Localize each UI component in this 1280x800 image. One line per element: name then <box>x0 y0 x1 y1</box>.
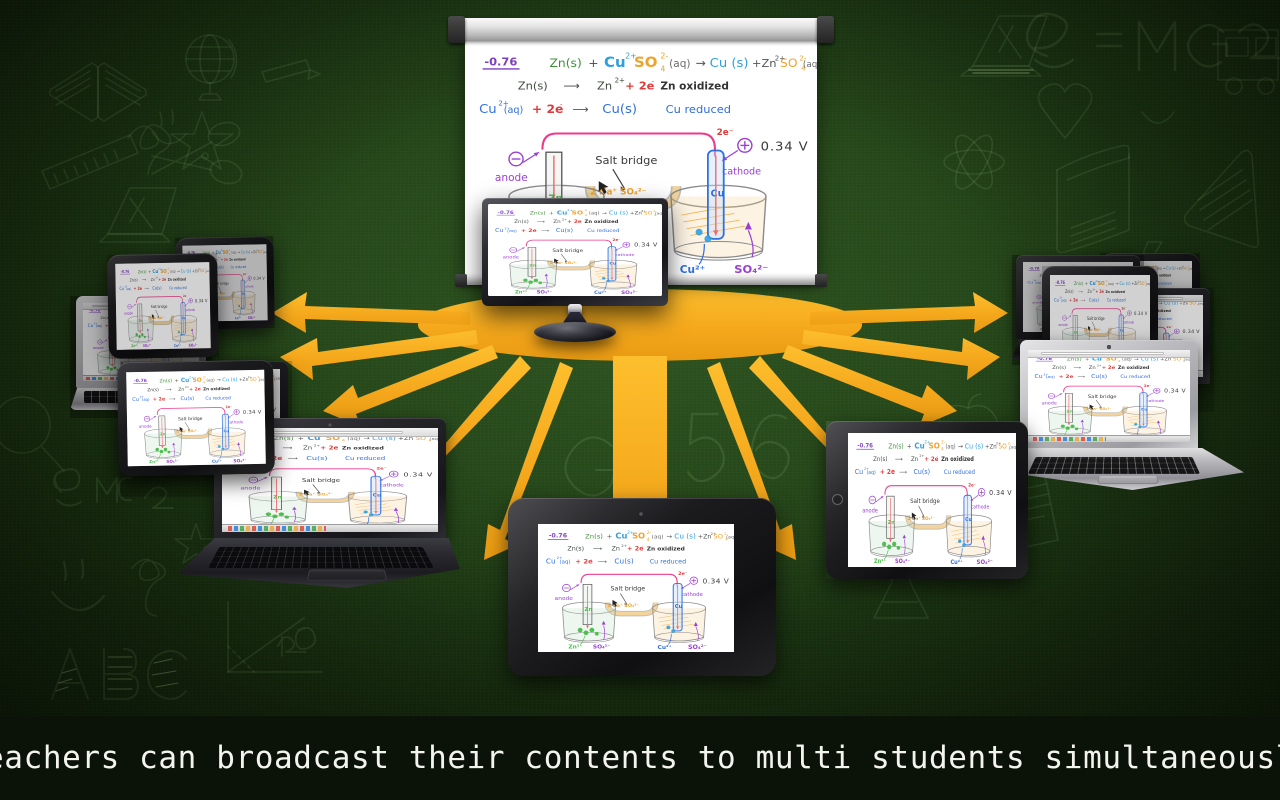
svg-text:+ 2e: + 2e <box>221 257 228 262</box>
webcam-icon <box>328 423 332 427</box>
os-taskbar[interactable] <box>1028 435 1190 442</box>
svg-text:Cu: Cu <box>965 517 972 523</box>
svg-text:+Zn: +Zn <box>251 250 257 255</box>
svg-text:SO: SO <box>250 377 257 383</box>
svg-text:0.34 V: 0.34 V <box>989 489 1012 498</box>
svg-text:SO: SO <box>713 533 723 541</box>
teacher-monitor[interactable]: -0.76 Zn(s) + Cu 2+ SO 4 2- (aq) → Cu (s… <box>482 198 668 334</box>
svg-text:2e⁻: 2e⁻ <box>678 571 688 577</box>
svg-text:+: + <box>148 269 151 275</box>
svg-text:Cu: Cu <box>1034 375 1042 380</box>
svg-text:→: → <box>666 533 672 541</box>
lesson-svg: -0.76 Zn(s) + Cu 2+ SO 4 2- (aq) → Cu (s… <box>115 262 210 350</box>
lesson-svg: -0.76 Zn(s) + Cu 2+ SO 4 2- (aq) → Cu (s… <box>126 370 266 466</box>
svg-text:cathode: cathode <box>615 253 635 257</box>
svg-text:(aq): (aq) <box>726 535 734 541</box>
svg-text:Cu (s): Cu (s) <box>674 532 696 541</box>
svg-text:Cu: Cu <box>1120 328 1124 332</box>
svg-text:anode: anode <box>93 346 104 350</box>
svg-text:Zn(s): Zn(s) <box>530 211 546 216</box>
svg-text:Zn oxidized: Zn oxidized <box>168 277 187 282</box>
svg-text:Cu: Cu <box>557 209 568 216</box>
svg-text:SO₄²⁻: SO₄²⁻ <box>248 315 256 320</box>
svg-text:Cu (s): Cu (s) <box>241 250 251 255</box>
svg-text:Zn(s): Zn(s) <box>567 546 584 553</box>
svg-text:2e⁻: 2e⁻ <box>183 294 188 299</box>
svg-text:Zn oxidized: Zn oxidized <box>1106 290 1126 294</box>
taskbar-icons[interactable] <box>1033 437 1106 441</box>
svg-text:+Zn: +Zn <box>1176 266 1182 270</box>
lesson-whiteboard: -0.76 Zn(s) + Cu 2+ SO 4 2- (aq) → Cu (s… <box>1028 350 1190 442</box>
svg-text:Zn(s): Zn(s) <box>873 457 887 463</box>
svg-text:Cu(s): Cu(s) <box>614 557 634 566</box>
taskbar-icons[interactable] <box>228 526 325 531</box>
svg-text:SO₄²⁻: SO₄²⁻ <box>143 343 152 348</box>
svg-text:⟶: ⟶ <box>541 229 549 234</box>
student-tablet-right[interactable]: -0.76 Zn(s) + Cu 2+ SO 4 2- (aq) → Cu (s… <box>826 421 1028 579</box>
svg-text:(aq): (aq) <box>1108 282 1115 286</box>
svg-text:Zn(s): Zn(s) <box>549 56 581 70</box>
svg-text:Salt bridge: Salt bridge <box>302 478 341 484</box>
svg-text:anode: anode <box>240 486 261 491</box>
svg-text:Zn oxidized: Zn oxidized <box>585 220 619 225</box>
svg-text:SO₄²⁻: SO₄²⁻ <box>593 644 610 651</box>
svg-text:Zn oxidized: Zn oxidized <box>1118 365 1149 370</box>
svg-text:SO₄²⁻: SO₄²⁻ <box>688 644 707 651</box>
svg-text:→: → <box>1163 266 1166 270</box>
svg-text:SO: SO <box>1140 280 1145 285</box>
svg-text:4: 4 <box>941 446 944 451</box>
svg-text:Cu²⁺: Cu²⁺ <box>174 343 181 348</box>
lesson-whiteboard: -0.76 Zn(s) + Cu 2+ SO 4 2- (aq) → Cu (s… <box>126 370 266 466</box>
svg-text:Cu: Cu <box>182 316 186 321</box>
svg-text:Zn oxidized: Zn oxidized <box>342 446 384 451</box>
svg-text:2-: 2- <box>203 375 206 379</box>
tablet-display[interactable]: -0.76 Zn(s) + Cu 2+ SO 4 2- (aq) → Cu (s… <box>115 262 210 350</box>
caption-text: Teachers can broadcast their contents to… <box>0 740 1280 776</box>
svg-text:Zn(s): Zn(s) <box>159 378 172 384</box>
svg-text:2-: 2- <box>941 439 945 444</box>
svg-text:Cu reduced: Cu reduced <box>1156 281 1172 285</box>
screenshot-root: -0.76 Zn(s) + Cu 2+ SO 4 2- (aq) → Cu (s… <box>0 0 1280 800</box>
svg-text:Cu: Cu <box>373 493 382 498</box>
svg-text:(aq): (aq) <box>655 211 662 215</box>
svg-text:Zn: Zn <box>911 457 918 463</box>
svg-text:Cu: Cu <box>181 378 190 384</box>
svg-text:4: 4 <box>342 439 345 443</box>
laptop-touchpad[interactable] <box>307 570 387 581</box>
svg-text:+ 2e: + 2e <box>627 546 643 553</box>
svg-text:Cu reduced: Cu reduced <box>169 286 187 291</box>
svg-text:Zn: Zn <box>888 520 895 526</box>
svg-text:Zn oxidized: Zn oxidized <box>647 547 685 553</box>
svg-text:2e⁻: 2e⁻ <box>1167 325 1173 329</box>
svg-text:Cu(s): Cu(s) <box>914 468 931 477</box>
svg-text:Zn²⁺: Zn²⁺ <box>131 344 138 349</box>
svg-text:SO: SO <box>193 378 202 384</box>
caption-bar: Teachers can broadcast their contents to… <box>0 716 1280 800</box>
svg-text:SO: SO <box>1098 280 1105 287</box>
svg-text:(aq): (aq) <box>231 250 236 255</box>
lesson-whiteboard: -0.76 Zn(s) + Cu 2+ SO 4 2- (aq) → Cu (s… <box>488 204 662 296</box>
svg-text:Cu: Cu <box>604 54 626 71</box>
svg-text:(aq): (aq) <box>507 229 517 233</box>
svg-text:Cu²⁺: Cu²⁺ <box>658 644 672 651</box>
os-taskbar[interactable] <box>222 524 438 532</box>
svg-text:2-: 2- <box>647 530 652 536</box>
svg-text:-: - <box>200 385 201 389</box>
svg-text:Zn: Zn <box>597 79 612 92</box>
svg-text:Zn: Zn <box>1089 365 1096 370</box>
svg-text:2+: 2+ <box>562 218 568 221</box>
svg-text:+ 2e: + 2e <box>189 386 201 392</box>
svg-text:Salt bridge: Salt bridge <box>910 499 940 505</box>
svg-text:Cu(s): Cu(s) <box>602 102 637 117</box>
svg-text:⟶: ⟶ <box>144 286 148 291</box>
svg-text:2+: 2+ <box>1093 288 1096 291</box>
svg-text:Cu(s): Cu(s) <box>180 396 194 402</box>
student-tablet-bottom[interactable]: -0.76 Zn(s) + Cu 2+ SO 4 2- (aq) → Cu (s… <box>508 498 776 676</box>
svg-text:2e⁻: 2e⁻ <box>243 273 248 276</box>
svg-text:+Zn: +Zn <box>985 444 997 450</box>
svg-text:2-: 2- <box>229 249 231 252</box>
svg-text:2e⁻: 2e⁻ <box>612 237 620 241</box>
svg-text:0.34 V: 0.34 V <box>195 298 208 304</box>
svg-text:Zn²⁺: Zn²⁺ <box>149 459 159 464</box>
svg-text:Zn: Zn <box>529 263 536 267</box>
svg-text:→: → <box>237 250 240 255</box>
svg-text:2 Na⁺ SO₄²⁻: 2 Na⁺ SO₄²⁻ <box>1086 407 1112 411</box>
svg-text:+ 2e: + 2e <box>880 469 895 476</box>
svg-text:Cu reduced: Cu reduced <box>650 558 687 565</box>
svg-text:Cu (s): Cu (s) <box>222 377 237 383</box>
svg-text:0.34 V: 0.34 V <box>243 410 262 416</box>
svg-text:Salt bridge: Salt bridge <box>1088 394 1117 399</box>
svg-text:⟶: ⟶ <box>169 397 176 402</box>
svg-text:(aq): (aq) <box>1184 358 1190 362</box>
laptop-keyboard[interactable] <box>208 547 433 568</box>
svg-text:⟶: ⟶ <box>537 220 545 225</box>
svg-text:⟶: ⟶ <box>593 546 602 553</box>
student-tablet-left-front[interactable]: -0.76 Zn(s) + Cu 2+ SO 4 2- (aq) → Cu (s… <box>117 360 275 477</box>
student-tablet-left-lower[interactable]: -0.76 Zn(s) + Cu 2+ SO 4 2- (aq) → Cu (s… <box>107 253 219 359</box>
monitor-display[interactable]: -0.76 Zn(s) + Cu 2+ SO 4 2- (aq) → Cu (s… <box>488 204 662 296</box>
svg-text:cathode: cathode <box>185 308 196 313</box>
svg-text:⟶: ⟶ <box>899 470 907 476</box>
svg-text:Zn²⁺: Zn²⁺ <box>874 558 886 565</box>
svg-text:2e⁻: 2e⁻ <box>968 482 977 488</box>
svg-text:(aq): (aq) <box>126 287 131 292</box>
svg-text:Zn(s): Zn(s) <box>138 269 147 275</box>
svg-text:⟶: ⟶ <box>1081 298 1086 302</box>
svg-text:Cu²⁺: Cu²⁺ <box>212 459 222 464</box>
svg-text:Cu (s): Cu (s) <box>1120 280 1131 285</box>
svg-text:Zn: Zn <box>178 387 184 393</box>
webcam-icon <box>1107 345 1111 349</box>
tablet-display[interactable]: -0.76 Zn(s) + Cu 2+ SO 4 2- (aq) → Cu (s… <box>126 370 266 466</box>
svg-text:-0.76: -0.76 <box>498 210 515 215</box>
svg-text:2e⁻: 2e⁻ <box>1122 306 1127 310</box>
svg-text:Zn: Zn <box>585 607 593 613</box>
svg-text:Cu: Cu <box>675 604 683 610</box>
svg-text:Cu(s): Cu(s) <box>1089 297 1099 302</box>
svg-text:+: + <box>1085 280 1088 285</box>
svg-text:2+: 2+ <box>621 543 627 548</box>
svg-text:Cu(s): Cu(s) <box>306 455 328 461</box>
svg-text:Zn oxidized: Zn oxidized <box>660 80 729 92</box>
svg-text:cathode: cathode <box>228 420 244 424</box>
svg-text:Salt bridge: Salt bridge <box>552 249 583 254</box>
svg-text:Cu reduced: Cu reduced <box>587 229 619 234</box>
svg-text:(aq): (aq) <box>1009 444 1016 450</box>
svg-text:+: + <box>607 533 613 541</box>
svg-text:0.34 V: 0.34 V <box>1183 329 1201 335</box>
svg-text:Cu: Cu <box>1054 297 1059 302</box>
svg-text:Zn: Zn <box>612 546 620 553</box>
svg-text:anode: anode <box>1042 401 1057 406</box>
tablet-display[interactable]: -0.76 Zn(s) + Cu 2+ SO 4 2- (aq) → Cu (s… <box>848 433 1016 567</box>
svg-text:⟶: ⟶ <box>165 388 172 393</box>
svg-text:+: + <box>588 56 598 70</box>
lesson-svg: -0.76 Zn(s) + Cu 2+ SO 4 2- (aq) → Cu (s… <box>848 433 1016 567</box>
svg-text:-: - <box>535 227 536 230</box>
svg-text:SO: SO <box>644 211 653 216</box>
svg-text:Cu: Cu <box>546 557 556 566</box>
svg-text:SO₄²⁻: SO₄²⁻ <box>977 559 993 566</box>
svg-text:Zn: Zn <box>151 278 155 283</box>
svg-text:⟶: ⟶ <box>142 278 146 283</box>
home-button-icon[interactable] <box>832 494 843 505</box>
svg-text:2+: 2+ <box>919 454 924 458</box>
svg-text:(aq): (aq) <box>652 535 664 541</box>
svg-text:SO₄²⁻: SO₄²⁻ <box>621 291 638 296</box>
svg-text:2e⁻: 2e⁻ <box>717 128 734 138</box>
svg-text:anode: anode <box>862 508 878 514</box>
svg-text:Zn: Zn <box>160 432 166 436</box>
svg-text:SO: SO <box>1183 266 1187 270</box>
svg-text:(aq): (aq) <box>347 437 360 442</box>
lesson-svg: -0.76 Zn(s) + Cu 2+ SO 4 2- (aq) → Cu (s… <box>538 524 734 652</box>
svg-text:(aq): (aq) <box>803 60 817 70</box>
browser-toolbar[interactable] <box>1028 350 1190 358</box>
svg-text:Cu: Cu <box>914 441 924 451</box>
svg-text:Cu reduced: Cu reduced <box>1107 298 1126 302</box>
svg-text:SO₄²⁻: SO₄²⁻ <box>895 558 910 565</box>
svg-text:SO: SO <box>160 268 166 275</box>
svg-text:Cu (s): Cu (s) <box>965 442 984 451</box>
lesson-svg: -0.76 Zn(s) + Cu 2+ SO 4 2- (aq) → Cu (s… <box>488 204 662 296</box>
svg-text:SO: SO <box>929 441 941 451</box>
svg-text:4: 4 <box>203 380 205 384</box>
svg-text:Cu: Cu <box>711 189 725 200</box>
svg-text:⟶: ⟶ <box>598 558 607 565</box>
laptop-keyboard[interactable] <box>1028 457 1200 474</box>
svg-text:(aq): (aq) <box>589 211 600 216</box>
svg-text:Salt bridge: Salt bridge <box>595 154 657 167</box>
address-bar[interactable] <box>1041 352 1164 355</box>
svg-text:Cu²⁺: Cu²⁺ <box>680 264 705 276</box>
svg-text:SO₄²⁻: SO₄²⁻ <box>166 459 178 464</box>
svg-text:2+: 2+ <box>615 77 626 85</box>
svg-text:-0.76: -0.76 <box>1056 281 1066 285</box>
svg-text:cathode: cathode <box>722 166 761 177</box>
svg-text:0.34 V: 0.34 V <box>253 276 265 281</box>
weight-cap-right-icon <box>815 274 827 287</box>
svg-text:-0.76: -0.76 <box>1029 267 1040 271</box>
weight-cap-left-icon <box>455 274 467 287</box>
svg-text:Zn: Zn <box>139 318 143 323</box>
svg-text:Salt bridge: Salt bridge <box>1087 317 1105 321</box>
svg-text:Cu (s): Cu (s) <box>1166 266 1176 270</box>
svg-text:Zn: Zn <box>273 495 282 500</box>
svg-text:anode: anode <box>1059 323 1068 327</box>
svg-text:Zn: Zn <box>1074 330 1078 334</box>
lesson-whiteboard: -0.76 Zn(s) + Cu 2+ SO 4 2- (aq) → Cu (s… <box>538 524 734 652</box>
svg-text:⟶: ⟶ <box>282 446 292 452</box>
svg-text:4: 4 <box>585 214 587 217</box>
svg-text:4: 4 <box>1118 359 1120 363</box>
svg-text:anode: anode <box>555 596 574 602</box>
svg-text:(aq): (aq) <box>866 470 875 476</box>
svg-text:anode: anode <box>139 424 152 429</box>
svg-text:Cu reduced: Cu reduced <box>345 456 385 462</box>
svg-text:0.34 V: 0.34 V <box>1134 311 1148 316</box>
svg-text:+: + <box>907 443 912 450</box>
svg-text:Cu: Cu <box>119 286 124 292</box>
svg-text:SO: SO <box>258 250 263 255</box>
svg-text:(aq): (aq) <box>142 398 150 402</box>
svg-text:+Zn: +Zn <box>698 534 712 541</box>
svg-text:2e⁻: 2e⁻ <box>376 466 387 471</box>
lesson-whiteboard: -0.76 Zn(s) + Cu 2+ SO 4 2- (aq) → Cu (s… <box>848 433 1016 567</box>
svg-text:+ 2e: + 2e <box>532 102 564 116</box>
svg-text:Cu: Cu <box>495 229 504 234</box>
svg-text:(aq): (aq) <box>206 377 215 382</box>
lesson-svg: -0.76 Zn(s) + Cu 2+ SO 4 2- (aq) → Cu (s… <box>1028 350 1190 442</box>
svg-text:SO₄²⁻: SO₄²⁻ <box>537 290 553 295</box>
svg-text:Zn(s): Zn(s) <box>585 533 603 541</box>
svg-text:(aq): (aq) <box>945 444 955 450</box>
student-laptop-right-front[interactable]: -0.76 Zn(s) + Cu 2+ SO 4 2- (aq) → Cu (s… <box>1012 340 1244 490</box>
laptop-display[interactable]: -0.76 Zn(s) + Cu 2+ SO 4 2- (aq) → Cu (s… <box>1028 350 1190 442</box>
svg-text:(aq): (aq) <box>1146 282 1150 286</box>
svg-text:2e⁻: 2e⁻ <box>1144 384 1152 388</box>
svg-text:Zn: Zn <box>1066 409 1073 413</box>
svg-text:⟶: ⟶ <box>895 457 903 463</box>
svg-text:(aq): (aq) <box>1046 375 1055 379</box>
svg-text:+Zn: +Zn <box>239 377 249 383</box>
svg-text:Zn: Zn <box>1088 290 1092 294</box>
svg-text:Cu(s): Cu(s) <box>1091 375 1107 380</box>
svg-text:SO: SO <box>780 56 798 70</box>
svg-text:0.34 V: 0.34 V <box>1164 389 1186 394</box>
svg-text:SO: SO <box>223 249 229 255</box>
svg-text:-: - <box>1072 373 1073 377</box>
svg-text:0.34 V: 0.34 V <box>403 471 432 477</box>
svg-text:cathode: cathode <box>1146 398 1165 402</box>
svg-text:SO: SO <box>199 268 204 274</box>
svg-text:0.34 V: 0.34 V <box>634 243 658 248</box>
svg-text:⟶: ⟶ <box>1073 366 1081 370</box>
roller-cap-right-icon <box>817 16 834 43</box>
svg-text:Zn(s): Zn(s) <box>1065 290 1074 294</box>
svg-text:+Zn: +Zn <box>752 57 777 70</box>
svg-text:Zn(s): Zn(s) <box>888 443 903 450</box>
svg-text:(aq): (aq) <box>1189 267 1192 270</box>
svg-text:→: → <box>696 56 706 70</box>
screen-roller-bar <box>452 18 830 40</box>
svg-text:Zn(s): Zn(s) <box>130 278 139 283</box>
svg-text:⟶: ⟶ <box>1077 376 1085 380</box>
svg-text:Cu(s): Cu(s) <box>152 285 162 291</box>
svg-text:Zn oxidized: Zn oxidized <box>941 457 974 463</box>
svg-text:SO₄²⁻: SO₄²⁻ <box>189 343 198 348</box>
svg-text:2-: 2- <box>724 531 729 536</box>
svg-text:Zn oxidized: Zn oxidized <box>229 257 245 262</box>
svg-text:Zn²⁺: Zn²⁺ <box>568 644 582 651</box>
svg-text:2-: 2- <box>660 52 668 61</box>
svg-text:Cu (s): Cu (s) <box>181 268 192 274</box>
svg-text:SO: SO <box>634 54 657 71</box>
svg-text:Salt bridge: Salt bridge <box>151 304 168 309</box>
svg-text:Cu (s): Cu (s) <box>609 211 628 216</box>
svg-text:+ 2e: + 2e <box>320 446 338 452</box>
svg-text:Zn(s): Zn(s) <box>518 79 548 92</box>
svg-text:-0.76: -0.76 <box>549 533 567 540</box>
laptop-touchpad[interactable] <box>1097 475 1158 483</box>
svg-text:⟶: ⟶ <box>572 103 588 116</box>
svg-text:-0.76: -0.76 <box>121 269 130 274</box>
svg-text:Zn(s): Zn(s) <box>147 387 159 393</box>
svg-text:⟶: ⟶ <box>1078 290 1083 294</box>
svg-text:0.34 V: 0.34 V <box>703 577 730 586</box>
svg-text:0.34 V: 0.34 V <box>761 140 809 155</box>
svg-text:SO: SO <box>998 443 1006 450</box>
svg-text:+Zn: +Zn <box>630 211 642 216</box>
svg-text:Cu²⁺: Cu²⁺ <box>235 316 242 321</box>
svg-text:Zn: Zn <box>553 220 560 225</box>
svg-text:+: + <box>175 378 179 384</box>
svg-text:+Zn: +Zn <box>192 269 199 274</box>
svg-text:cathode: cathode <box>681 592 703 598</box>
tablet-display[interactable]: -0.76 Zn(s) + Cu 2+ SO 4 2- (aq) → Cu (s… <box>538 524 734 652</box>
svg-text:(aq): (aq) <box>669 58 690 70</box>
svg-text:Cu: Cu <box>609 261 616 265</box>
svg-text:Cu reduced: Cu reduced <box>1120 375 1150 380</box>
svg-text:SO₄²⁻: SO₄²⁻ <box>233 458 247 464</box>
svg-text:Cu: Cu <box>479 102 497 117</box>
svg-text:SO: SO <box>632 532 645 541</box>
svg-text:Cu: Cu <box>1141 407 1148 411</box>
svg-text:cathode: cathode <box>1123 320 1134 324</box>
svg-text:Cu(s): Cu(s) <box>556 229 573 234</box>
svg-text:(aq): (aq) <box>1061 298 1067 302</box>
svg-text:(aq): (aq) <box>504 105 524 116</box>
svg-text:2+: 2+ <box>314 444 320 447</box>
svg-text:Cu: Cu <box>1090 280 1096 287</box>
svg-text:Cu: Cu <box>132 397 139 403</box>
monitor-base <box>534 322 616 342</box>
svg-text:+ 2e: + 2e <box>924 457 938 463</box>
svg-text:Cu²⁺: Cu²⁺ <box>594 291 607 296</box>
svg-text:2e⁻: 2e⁻ <box>225 405 232 409</box>
svg-text:Cu: Cu <box>88 323 94 329</box>
svg-text:Cu: Cu <box>223 429 229 433</box>
svg-text:⟶: ⟶ <box>288 456 298 462</box>
svg-text:Cu²⁺: Cu²⁺ <box>950 559 962 566</box>
svg-text:(aq): (aq) <box>429 437 438 442</box>
front-camera-icon <box>639 512 643 516</box>
